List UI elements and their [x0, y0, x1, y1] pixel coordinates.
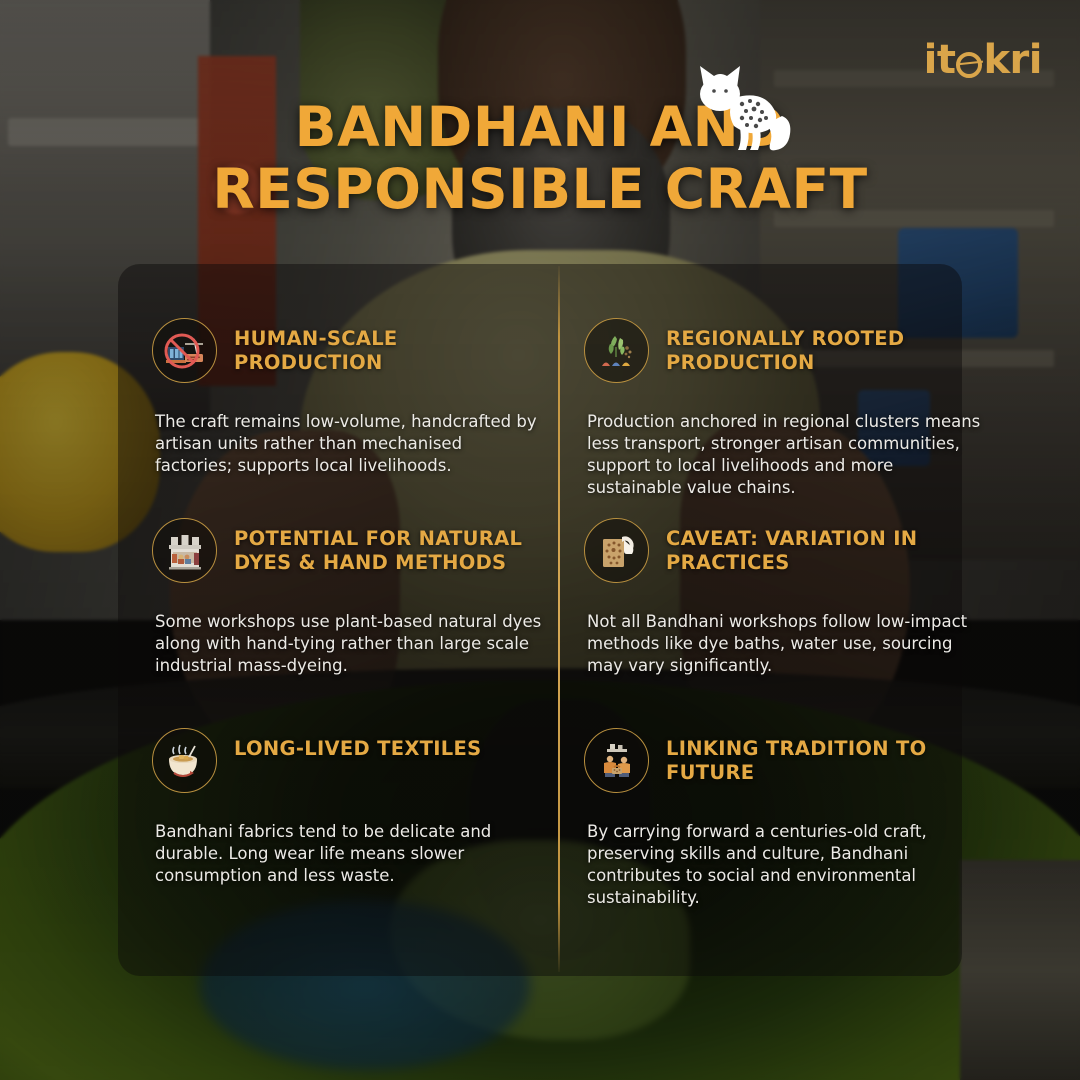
- card-body: Production anchored in regional clusters…: [584, 411, 984, 499]
- card-body: Bandhani fabrics tend to be delicate and…: [152, 821, 544, 887]
- column-divider: [558, 266, 560, 972]
- card-title: CAVEAT: VARIATION IN PRACTICES: [666, 518, 984, 576]
- two-artisans-icon: [584, 728, 649, 793]
- card-natural-dyes-hand-methods: POTENTIAL FOR NATURAL DYES & HAND METHOD…: [152, 518, 544, 677]
- itokri-logo[interactable]: itkri: [924, 40, 1042, 80]
- logo-text-kri: kri: [983, 40, 1042, 80]
- card-title: HUMAN-SCALE PRODUCTION: [234, 318, 544, 376]
- card-body: By carrying forward a centuries-old craf…: [584, 821, 984, 909]
- card-title: LINKING TRADITION TO FUTURE: [666, 728, 984, 786]
- header: BANDHANI AND RESPONSIBLE CRAFT: [0, 96, 1080, 220]
- card-caveat-variation-in-practices: CAVEAT: VARIATION IN PRACTICES Not all B…: [584, 518, 984, 677]
- card-title: POTENTIAL FOR NATURAL DYES & HAND METHOD…: [234, 518, 544, 576]
- card-regionally-rooted-production: REGIONALLY ROOTED PRODUCTION Production …: [584, 318, 984, 499]
- page-title: BANDHANI AND RESPONSIBLE CRAFT: [0, 96, 1080, 220]
- card-body: Some workshops use plant-based natural d…: [152, 611, 544, 677]
- card-human-scale-production: HUMAN-SCALE PRODUCTION The craft remains…: [152, 318, 544, 477]
- natural-dye-plants-icon: [584, 318, 649, 383]
- cat-illustration-icon: [690, 58, 800, 156]
- no-factory-icon: [152, 318, 217, 383]
- card-body: Not all Bandhani workshops follow low-im…: [584, 611, 984, 677]
- card-long-lived-textiles: LONG-LIVED TEXTILES Bandhani fabrics ten…: [152, 728, 544, 887]
- card-title: LONG-LIVED TEXTILES: [234, 728, 482, 761]
- logo-o-mark-icon: [956, 52, 982, 78]
- card-body: The craft remains low-volume, handcrafte…: [152, 411, 544, 477]
- artisan-workshop-icon: [152, 518, 217, 583]
- card-title: REGIONALLY ROOTED PRODUCTION: [666, 318, 984, 376]
- hand-holding-fabric-icon: [584, 518, 649, 583]
- dye-pot-icon: [152, 728, 217, 793]
- logo-text-it: it: [924, 40, 956, 80]
- card-linking-tradition-to-future: LINKING TRADITION TO FUTURE By carrying …: [584, 728, 984, 909]
